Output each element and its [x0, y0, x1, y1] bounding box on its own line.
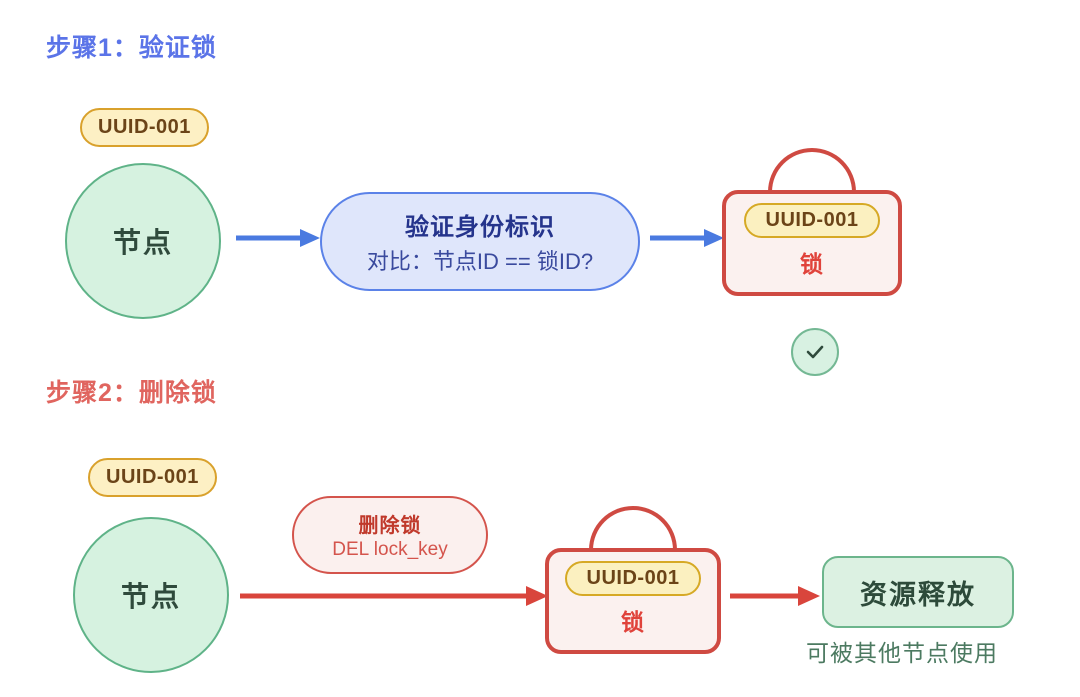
- step1-lock-uuid-badge: UUID-001: [744, 203, 881, 238]
- step2-lock-body: UUID-001 锁: [545, 548, 721, 654]
- step1-check-badge: [791, 328, 839, 376]
- step1-node-label: 节点: [113, 221, 173, 261]
- step2-node-uuid-badge: UUID-001: [88, 458, 217, 497]
- step2-lock: UUID-001 锁: [545, 506, 721, 660]
- step2-node-label: 节点: [121, 575, 181, 615]
- step1-decision-bubble: 验证身份标识 对比：节点ID == 锁ID?: [320, 192, 640, 291]
- step1-lock-label: 锁: [800, 245, 824, 279]
- step1-arrow-decision-to-lock: [650, 226, 726, 250]
- step1-decision-subtitle: 对比：节点ID == 锁ID?: [367, 244, 593, 276]
- step2-arrow-node-to-lock: [240, 583, 550, 609]
- step2-lock-label: 锁: [621, 603, 645, 637]
- step2-result-box: 资源释放: [822, 556, 1014, 628]
- step2-node-circle: 节点: [73, 517, 229, 673]
- step2-arrow-lock-to-result: [730, 583, 822, 609]
- step1-node-uuid-badge: UUID-001: [80, 108, 209, 147]
- step1-node-circle: 节点: [65, 163, 221, 319]
- diagram-canvas: 步骤1：验证锁 UUID-001 节点 验证身份标识 对比：节点ID == 锁I…: [0, 0, 1080, 697]
- step2-result-label: 资源释放: [860, 573, 976, 612]
- step2-title: 步骤2：删除锁: [46, 373, 217, 409]
- step2-lock-uuid-badge: UUID-001: [565, 561, 702, 596]
- check-icon: [803, 340, 827, 364]
- step1-lock-body: UUID-001 锁: [722, 190, 902, 296]
- step1-lock: UUID-001 锁: [722, 148, 902, 296]
- step2-result-caption: 可被其他节点使用: [806, 634, 998, 668]
- step2-action-command: DEL lock_key: [332, 539, 447, 561]
- step2-action-title: 删除锁: [359, 509, 422, 538]
- step1-arrow-node-to-decision: [236, 226, 322, 250]
- step1-title: 步骤1：验证锁: [46, 28, 217, 64]
- step2-action-bubble: 删除锁 DEL lock_key: [292, 496, 488, 574]
- step1-decision-title: 验证身份标识: [405, 207, 555, 242]
